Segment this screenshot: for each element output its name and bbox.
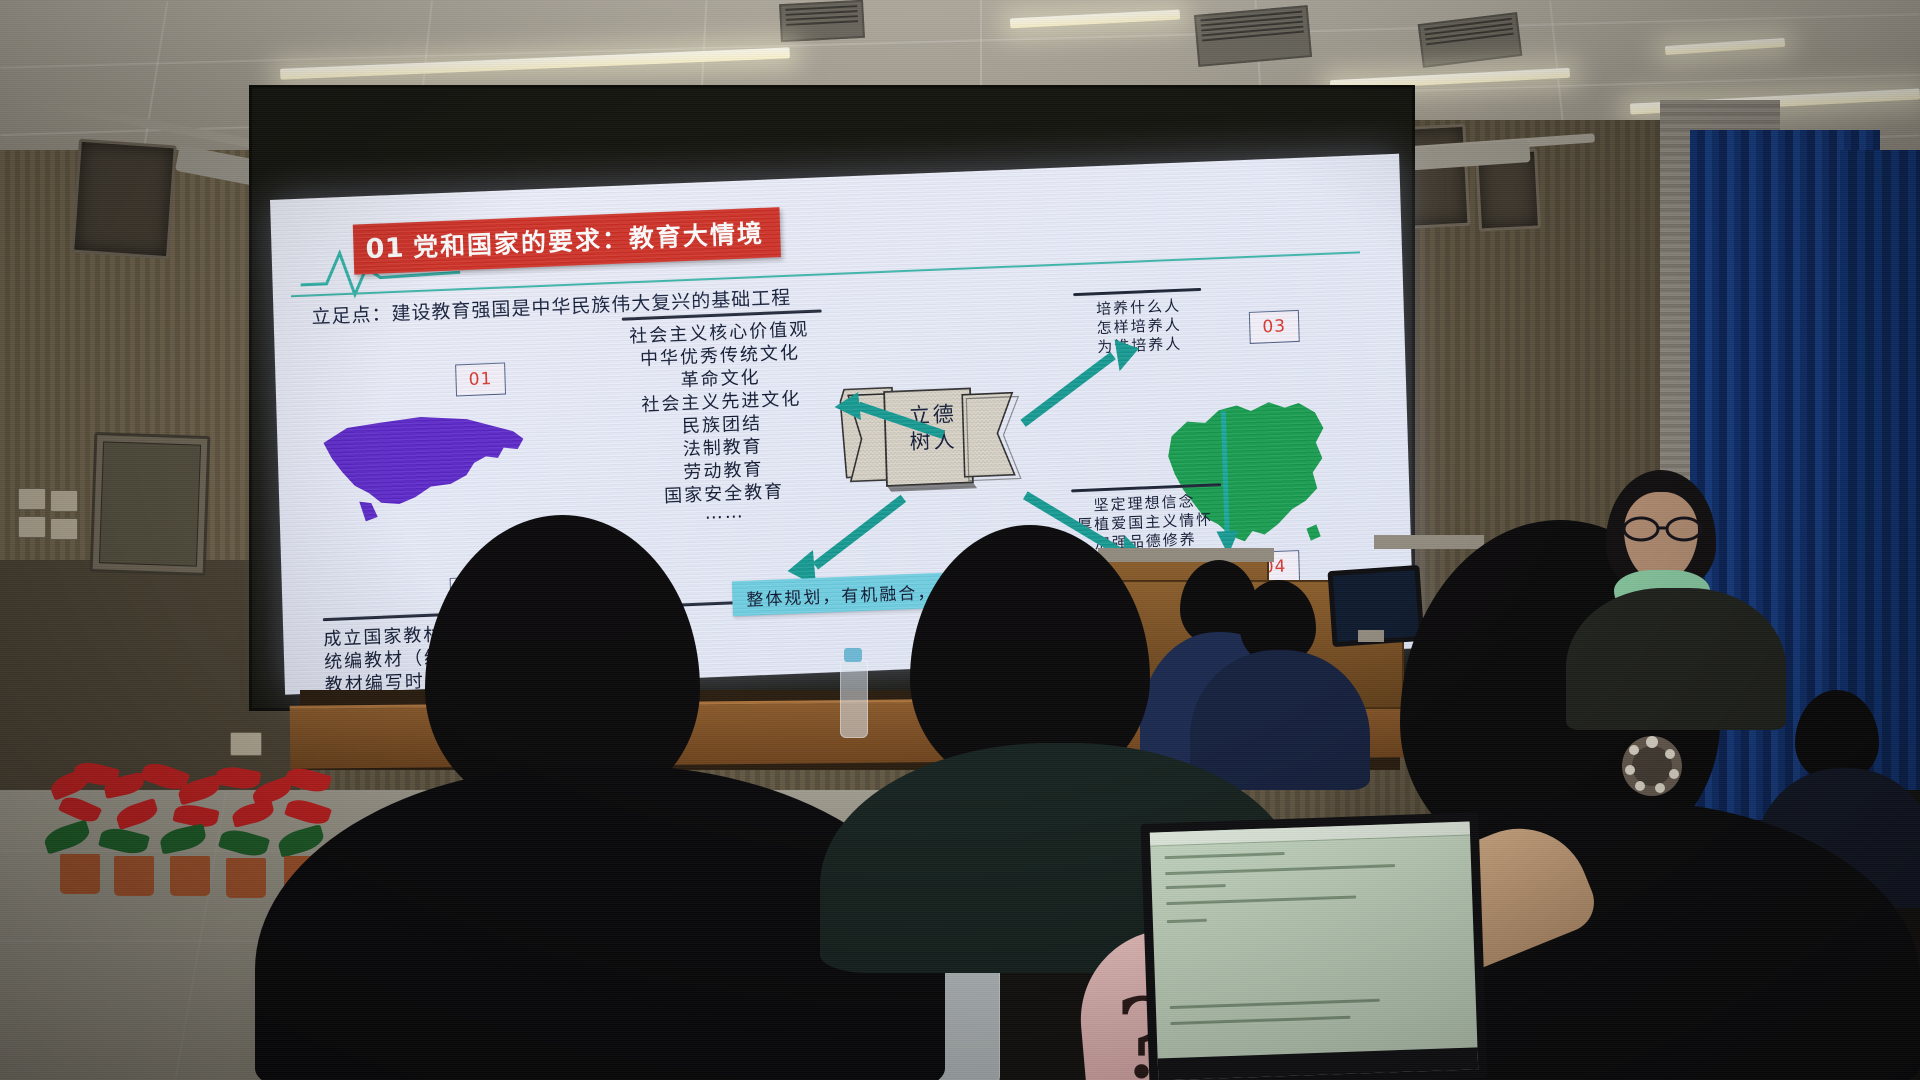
presenter-glasses-icon [1620, 516, 1706, 542]
slide-title-bar: 01 党和国家的要求：教育大情境 [353, 207, 781, 274]
open-laptop[interactable] [1140, 812, 1487, 1080]
wall-speaker [71, 139, 177, 260]
block-03-topline [1073, 288, 1201, 296]
wall-control-panel[interactable] [90, 432, 211, 576]
wall-outlet [50, 518, 78, 540]
arrow-to-block-03 [1015, 332, 1148, 427]
flower-pot [170, 856, 210, 896]
presenter [1566, 470, 1786, 730]
lecture-hall-photo: 01 党和国家的要求：教育大情境 立足点：建设教育强国是中华民族伟大复兴的基础工… [0, 0, 1920, 1080]
wall-outlet [50, 490, 78, 512]
marker-01: 01 [455, 362, 506, 396]
ceiling-vent [1418, 12, 1523, 68]
slide-title-text: 党和国家的要求：教育大情境 [412, 214, 764, 264]
presenter-jacket [1566, 588, 1786, 730]
map-usa-icon [316, 394, 535, 533]
ceiling-lamp [1010, 10, 1180, 29]
slide-title-number: 01 [365, 233, 404, 266]
laptop-titlebar [1150, 821, 1470, 846]
marker-03: 03 [1249, 310, 1300, 344]
hair-scrunchie-icon [1612, 726, 1692, 806]
ceiling-vent [1194, 5, 1312, 67]
ceiling-vent [779, 0, 865, 42]
ceiling-lamp [1665, 38, 1785, 55]
arrow-to-center-list [824, 385, 946, 450]
wall-outlet [18, 488, 46, 510]
flower-pot [114, 856, 154, 896]
laptop-taskbar[interactable] [1158, 1047, 1479, 1080]
flower-pot [60, 854, 100, 894]
wall-outlet [18, 516, 46, 538]
